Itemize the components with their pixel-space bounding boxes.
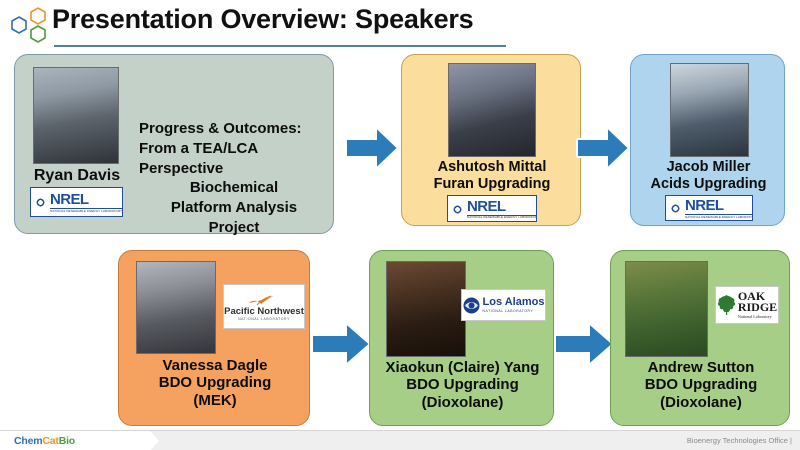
- pnnl-subtitle: NATIONAL LABORATORY: [238, 318, 290, 321]
- chemcatbio-hexagon-logo: [6, 4, 52, 50]
- speaker-name-ashutosh-mittal: Ashutosh Mittal Furan Upgrading: [402, 159, 582, 192]
- speaker-name-text: Ryan Davis: [21, 167, 133, 185]
- nrel-logo: NREL NATIONAL RENEWABLE ENERGY LABORATOR…: [30, 187, 123, 217]
- nrel-logo: NREL NATIONAL RENEWABLE ENERGY LABORATOR…: [665, 195, 753, 221]
- nrel-mark-icon: [668, 201, 683, 216]
- speaker-role-detail: (MEK): [119, 392, 311, 409]
- speaker-card-xiaokun-yang[interactable]: Los Alamos NATIONAL LABORATORY Xiaokun (…: [369, 250, 554, 426]
- speaker-role-text: Acids Upgrading: [631, 176, 786, 193]
- avatar-ryan-davis: [33, 67, 119, 164]
- nrel-mark-icon: [450, 202, 465, 217]
- desc-line-4: Biochemical: [139, 178, 329, 198]
- desc-line-3: Perspective: [139, 159, 329, 179]
- speaker-card-vanessa-dagle[interactable]: Pacific Northwest NATIONAL LABORATORY Va…: [118, 250, 310, 426]
- los-alamos-wordmark: Los Alamos: [483, 297, 545, 308]
- pnnl-logo: Pacific Northwest NATIONAL LABORATORY: [223, 284, 305, 329]
- nrel-subtitle: NATIONAL RENEWABLE ENERGY LABORATORY: [685, 214, 753, 219]
- pnnl-swoosh-icon: [247, 292, 281, 306]
- oak-ridge-logo: OAK RIDGE National Laboratory: [715, 286, 779, 324]
- avatar-andrew-sutton: [625, 261, 708, 357]
- desc-line-2: From a TEA/LCA: [139, 139, 329, 159]
- nrel-wordmark: NREL: [50, 192, 122, 207]
- pnnl-wordmark: Pacific Northwest: [224, 307, 304, 317]
- speaker-card-jacob-miller[interactable]: Jacob Miller Acids Upgrading NREL NATION…: [630, 54, 785, 226]
- slide-footer: ChemCatBio Bioenergy Technologies Office…: [0, 430, 800, 450]
- footer-office-text: Bioenergy Technologies Office |: [687, 436, 792, 445]
- avatar-jacob-miller: [670, 63, 749, 157]
- speaker-name-andrew-sutton: Andrew Sutton BDO Upgrading (Dioxolane): [611, 359, 791, 411]
- arrow-yang-to-sutton: [553, 320, 615, 368]
- page-title: Presentation Overview: Speakers: [52, 4, 474, 35]
- nrel-mark-icon: [33, 195, 48, 210]
- speaker-description-ryan-davis: Progress & Outcomes: From a TEA/LCA Pers…: [139, 119, 329, 238]
- speaker-card-ryan-davis[interactable]: Ryan Davis NREL NATIONAL RENEWABLE ENERG…: [14, 54, 334, 234]
- nrel-subtitle: NATIONAL RENEWABLE ENERGY LABORATORY: [50, 208, 122, 213]
- nrel-wordmark: NREL: [685, 198, 753, 213]
- speaker-role-detail: (Dioxolane): [611, 394, 791, 411]
- nrel-wordmark: NREL: [467, 199, 537, 214]
- brand-bio: Bio: [59, 435, 75, 447]
- title-underline: [54, 45, 506, 47]
- los-alamos-subtitle: NATIONAL LABORATORY: [483, 310, 545, 313]
- nrel-logo: NREL NATIONAL RENEWABLE ENERGY LABORATOR…: [447, 195, 537, 222]
- speaker-name-jacob-miller: Jacob Miller Acids Upgrading: [631, 159, 786, 192]
- speaker-role-text: BDO Upgrading: [611, 376, 791, 393]
- speaker-role-detail: (Dioxolane): [370, 394, 555, 411]
- speaker-card-andrew-sutton[interactable]: OAK RIDGE National Laboratory Andrew Sut…: [610, 250, 790, 426]
- desc-line-6: Project: [139, 218, 329, 238]
- speaker-name-text: Ashutosh Mittal: [402, 159, 582, 176]
- speaker-name-text: Vanessa Dagle: [119, 357, 311, 374]
- speaker-name-text: Jacob Miller: [631, 159, 786, 176]
- avatar-vanessa-dagle: [136, 261, 216, 354]
- speaker-name-text: Andrew Sutton: [611, 359, 791, 376]
- oak-ridge-wordmark-2: RIDGE: [738, 302, 777, 313]
- speaker-role-text: Furan Upgrading: [402, 176, 582, 193]
- nrel-subtitle: NATIONAL RENEWABLE ENERGY LABORATORY: [467, 215, 537, 220]
- brand-chem: Chem: [14, 435, 42, 447]
- speaker-card-ashutosh-mittal[interactable]: Ashutosh Mittal Furan Upgrading NREL NAT…: [401, 54, 581, 226]
- arrow-mittal-to-miller: [575, 124, 631, 172]
- speaker-name-xiaokun-yang: Xiaokun (Claire) Yang BDO Upgrading (Dio…: [370, 359, 555, 411]
- desc-line-1: Progress & Outcomes:: [139, 119, 329, 139]
- los-alamos-globe-icon: [463, 297, 480, 314]
- speaker-name-ryan-davis: Ryan Davis: [21, 167, 133, 185]
- speaker-name-vanessa-dagle: Vanessa Dagle BDO Upgrading (MEK): [119, 357, 311, 409]
- arrow-davis-to-mittal: [344, 124, 400, 172]
- avatar-ashutosh-mittal: [448, 63, 536, 157]
- avatar-xiaokun-yang: [386, 261, 466, 357]
- los-alamos-logo: Los Alamos NATIONAL LABORATORY: [461, 289, 546, 321]
- brand-cat: Cat: [42, 435, 58, 447]
- speaker-name-text: Xiaokun (Claire) Yang: [370, 359, 555, 376]
- arrow-dagle-to-yang: [310, 320, 372, 368]
- chemcatbio-wordmark: ChemCatBio: [14, 435, 75, 447]
- desc-line-5: Platform Analysis: [139, 198, 329, 218]
- speaker-role-text: BDO Upgrading: [119, 374, 311, 391]
- oak-leaf-icon: [717, 294, 736, 316]
- slide-canvas: Presentation Overview: Speakers Ryan Dav…: [0, 0, 800, 450]
- oak-ridge-subtitle: National Laboratory: [738, 315, 777, 319]
- speaker-role-text: BDO Upgrading: [370, 376, 555, 393]
